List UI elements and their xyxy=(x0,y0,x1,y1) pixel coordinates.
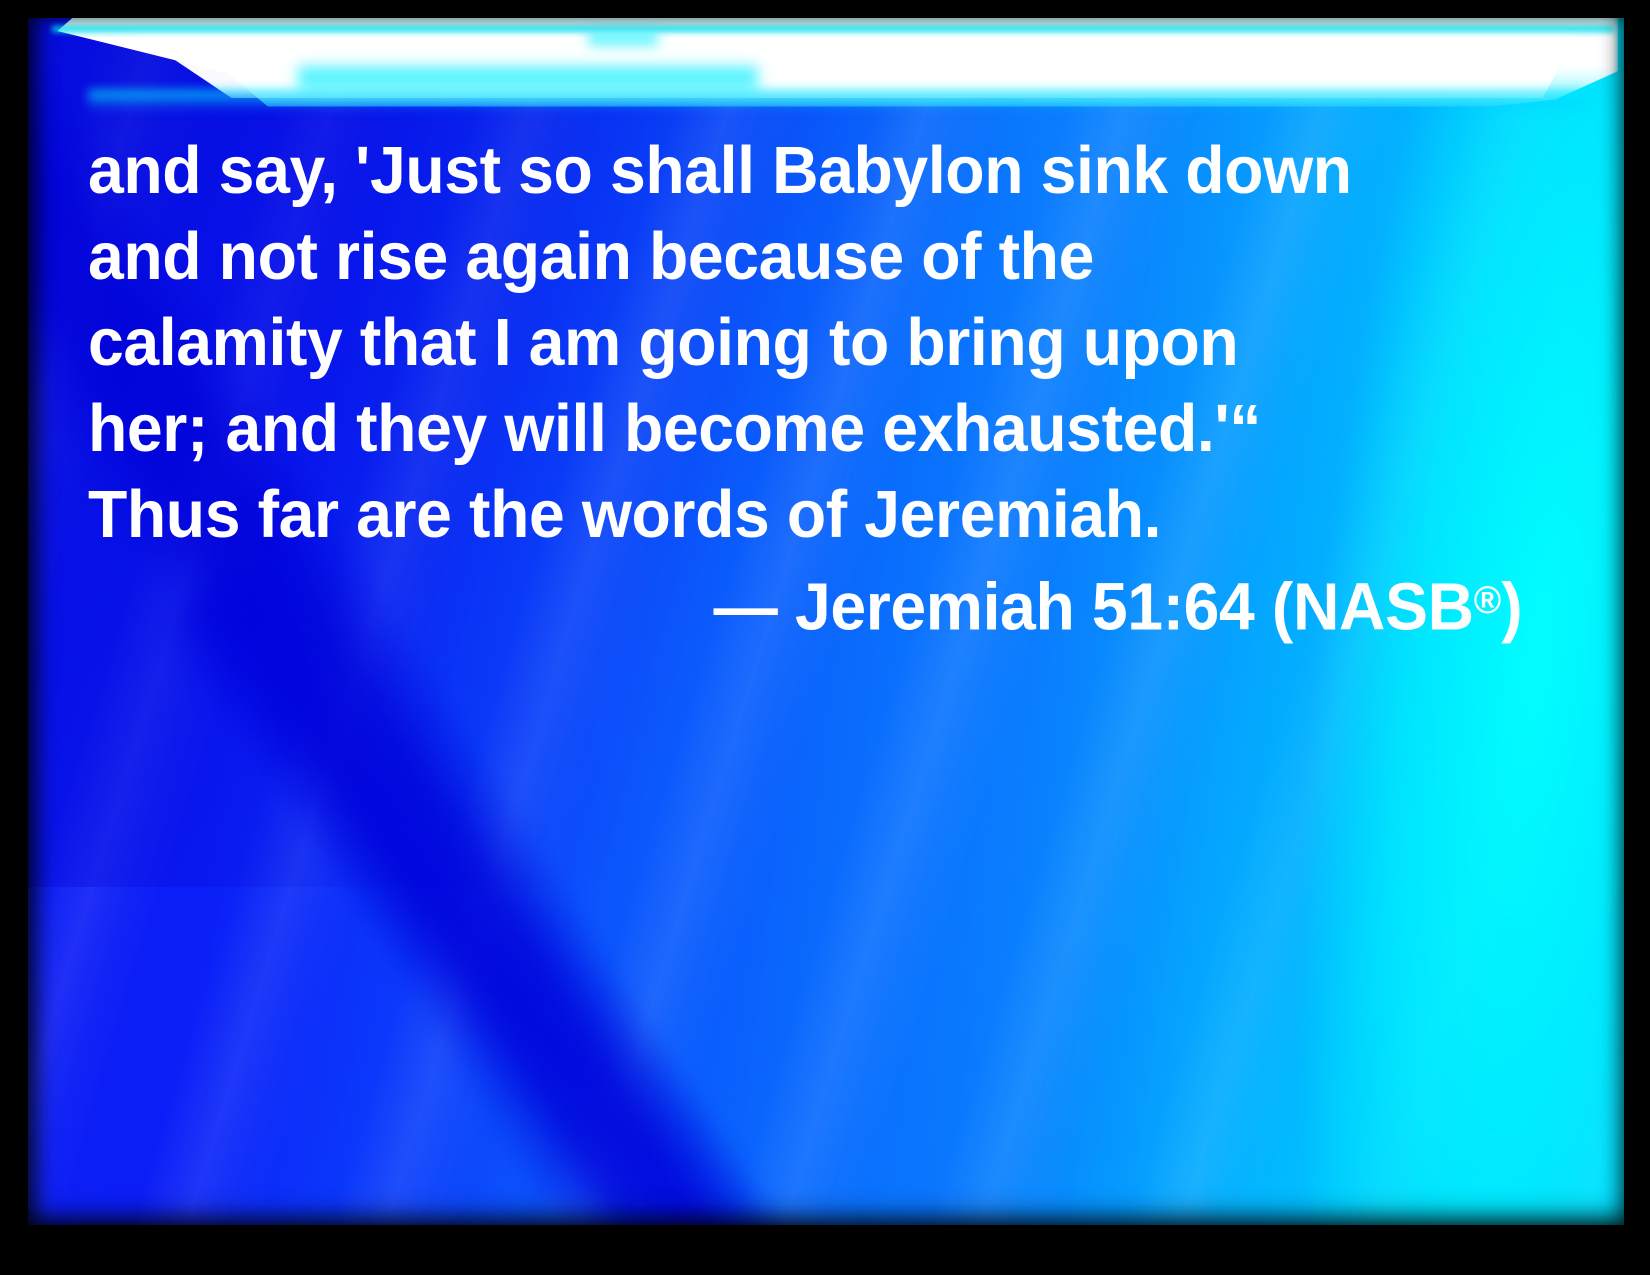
verse-line-4: her; and they will become exhausted.'“ xyxy=(88,386,1470,472)
attribution-close-paren: ) xyxy=(1501,569,1522,644)
verse-line-1: and say, 'Just so shall Babylon sink dow… xyxy=(88,128,1470,214)
attribution-em-dash: — xyxy=(714,569,778,644)
verse-line-3: calamity that I am going to bring upon xyxy=(88,300,1470,386)
attribution-open-paren: ( xyxy=(1272,569,1293,644)
verse-attribution: — Jeremiah 51:64 (NASB®) xyxy=(146,558,1528,650)
attribution-book: Jeremiah xyxy=(795,569,1074,644)
attribution-reference: 51:64 xyxy=(1092,569,1255,644)
attribution-space-2 xyxy=(1074,569,1091,644)
attribution-space-3 xyxy=(1254,569,1271,644)
attribution-version: NASB xyxy=(1293,569,1474,644)
attribution-space-1 xyxy=(777,569,794,644)
scripture-slide: and say, 'Just so shall Babylon sink dow… xyxy=(0,0,1650,1275)
registered-trademark-icon: ® xyxy=(1474,579,1501,622)
slide-stage: and say, 'Just so shall Babylon sink dow… xyxy=(28,18,1624,1225)
verse-line-2: and not rise again because of the xyxy=(88,214,1470,300)
verse-line-5: Thus far are the words of Jeremiah. xyxy=(88,472,1470,558)
verse-text-block: and say, 'Just so shall Babylon sink dow… xyxy=(88,128,1528,650)
